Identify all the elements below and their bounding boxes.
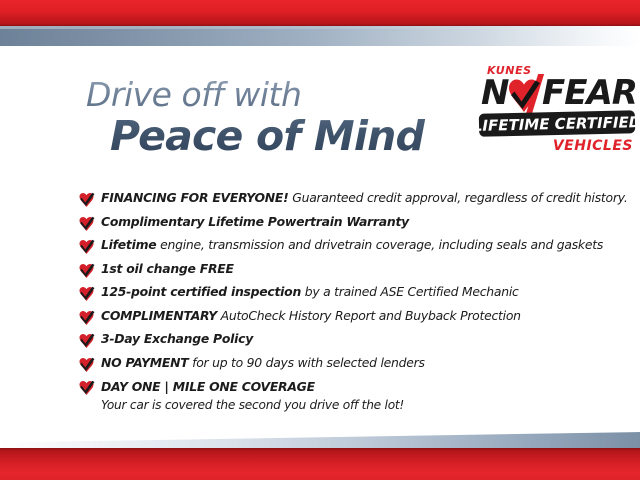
logo-letter-n: N	[481, 76, 508, 110]
bottom-gray-gradient-bar	[0, 432, 640, 449]
top-red-bar	[0, 0, 640, 26]
feature-item-autocheck: COMPLIMENTARY AutoCheck History Report a…	[78, 308, 598, 327]
feature-text: DAY ONE | MILE ONE COVERAGE	[101, 379, 315, 394]
feature-item-powertrain-warranty: Complimentary Lifetime Powertrain Warran…	[78, 214, 598, 233]
feature-text: FINANCING FOR EVERYONE! Guaranteed credi…	[101, 190, 628, 206]
feature-bold: Lifetime	[101, 237, 156, 252]
heart-check-icon	[78, 286, 96, 302]
feature-subtext: Your car is covered the second you drive…	[101, 397, 404, 413]
feature-item-day-one-mile-one: DAY ONE | MILE ONE COVERAGE Your car is …	[78, 378, 598, 413]
heart-check-icon	[78, 380, 96, 396]
feature-item-inspection: 125-point certified inspection by a trai…	[78, 284, 598, 303]
heart-check-icon	[78, 263, 96, 279]
feature-bold: FINANCING FOR EVERYONE!	[101, 190, 289, 205]
feature-text: 125-point certified inspection by a trai…	[101, 284, 519, 300]
kunes-no-fear-logo: KUNES N FEAR LIFETIME CERTIFIED VEHICLES	[479, 64, 637, 162]
features-list: FINANCING FOR EVERYONE! Guaranteed credi…	[78, 190, 598, 418]
headline-line-1: Drive off with	[86, 78, 466, 113]
logo-lifetime-certified-banner: LIFETIME CERTIFIED	[479, 110, 635, 137]
headline-line-2: Peace of Mind	[110, 114, 466, 158]
heart-check-icon	[78, 192, 96, 208]
kunes-no-fear-advertisement: Drive off with Peace of Mind KUNES N FEA…	[0, 0, 640, 480]
feature-rest: for up to 90 days with selected lenders	[188, 355, 424, 370]
feature-text: 1st oil change FREE	[101, 261, 234, 277]
logo-word-vehicles: VEHICLES	[553, 138, 633, 154]
top-gray-gradient-bar	[0, 26, 640, 46]
feature-rest: AutoCheck History Report and Buyback Pro…	[217, 308, 521, 323]
logo-no-fear-wordmark: N FEAR	[479, 76, 637, 112]
feature-item-financing: FINANCING FOR EVERYONE! Guaranteed credi…	[78, 190, 598, 209]
bottom-red-bar	[0, 448, 640, 480]
feature-text: 3-Day Exchange Policy	[101, 331, 253, 347]
feature-item-oil-change: 1st oil change FREE	[78, 261, 598, 280]
feature-bold: Complimentary Lifetime Powertrain Warran…	[101, 214, 409, 229]
feature-bold: DAY ONE | MILE ONE COVERAGE	[101, 379, 315, 394]
heart-check-icon	[78, 333, 96, 349]
headline-block: Drive off with Peace of Mind	[86, 78, 466, 158]
feature-bold: COMPLIMENTARY	[101, 308, 217, 323]
feature-item-exchange-policy: 3-Day Exchange Policy	[78, 331, 598, 350]
feature-text: COMPLIMENTARY AutoCheck History Report a…	[101, 308, 521, 324]
feature-bold: 3-Day Exchange Policy	[101, 331, 253, 346]
feature-item-lifetime-coverage: Lifetime engine, transmission and drivet…	[78, 237, 598, 256]
feature-text: NO PAYMENT for up to 90 days with select…	[101, 355, 425, 371]
feature-rest: Guaranteed credit approval, regardless o…	[289, 190, 628, 205]
feature-text: Complimentary Lifetime Powertrain Warran…	[101, 214, 409, 230]
feature-rest: engine, transmission and drivetrain cove…	[156, 237, 603, 252]
feature-bold: NO PAYMENT	[101, 355, 188, 370]
heart-check-icon	[78, 239, 96, 255]
feature-text: Lifetime engine, transmission and drivet…	[101, 237, 603, 253]
feature-text-block: DAY ONE | MILE ONE COVERAGE Your car is …	[101, 378, 404, 413]
logo-word-fear: FEAR	[542, 76, 637, 110]
heart-check-icon	[78, 310, 96, 326]
feature-bold: 1st oil change FREE	[101, 261, 234, 276]
heart-check-icon	[78, 216, 96, 232]
heart-check-icon	[507, 78, 541, 114]
heart-check-icon	[78, 357, 96, 373]
feature-bold: 125-point certified inspection	[101, 284, 301, 299]
feature-item-no-payment: NO PAYMENT for up to 90 days with select…	[78, 355, 598, 374]
logo-banner-text: LIFETIME CERTIFIED	[473, 113, 640, 135]
feature-rest: by a trained ASE Certified Mechanic	[301, 284, 519, 299]
